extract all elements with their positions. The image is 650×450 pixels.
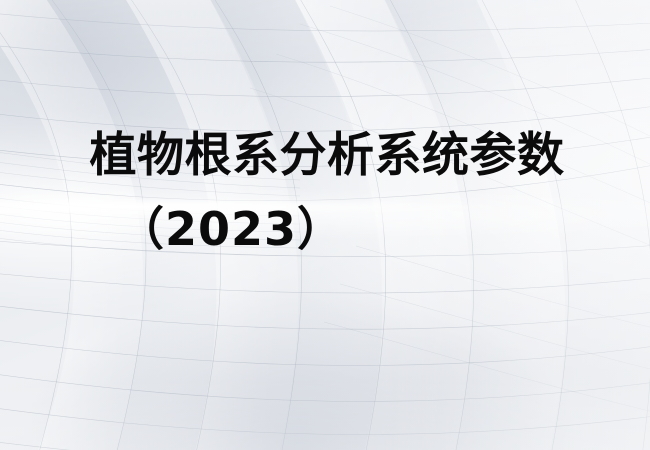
title-block: 植物根系分析系统参数 （2023）: [0, 132, 650, 252]
title-slide: 植物根系分析系统参数 （2023）: [0, 0, 650, 450]
slide-title-year: （2023）: [0, 206, 462, 252]
slide-title-primary: 植物根系分析系统参数: [4, 132, 650, 179]
